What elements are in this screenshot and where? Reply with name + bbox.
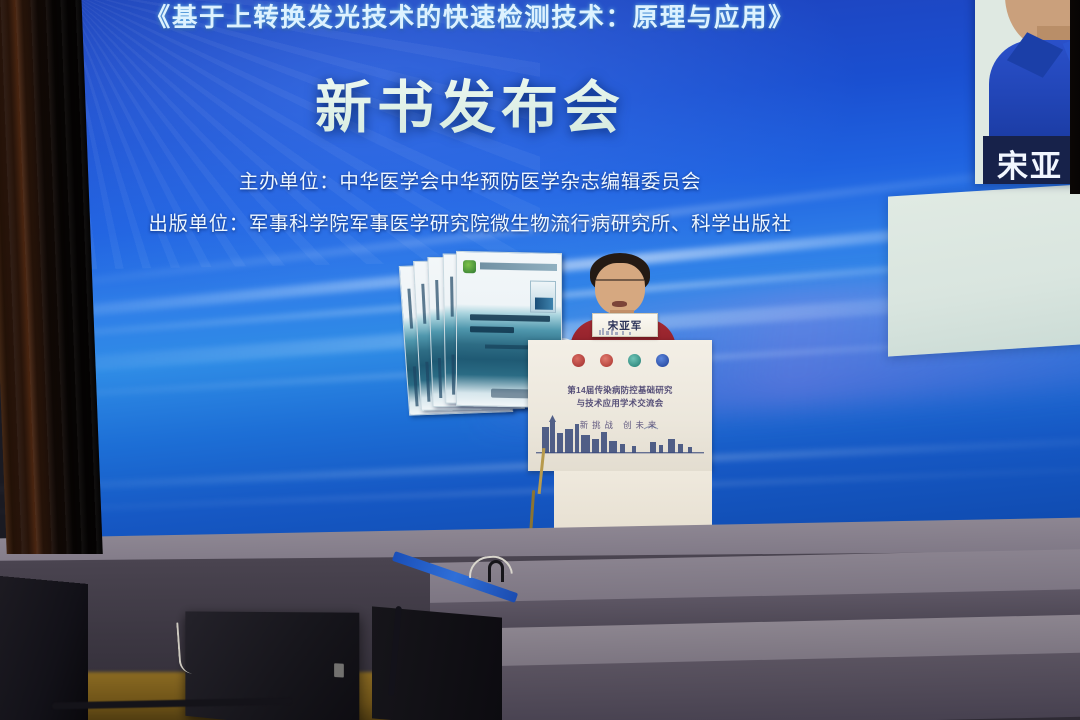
book-title-bar: [470, 314, 550, 322]
speaker-glasses-icon: [596, 279, 644, 288]
podium-conference-line-1: 第14届传染病防控基础研究: [528, 384, 712, 396]
book-series-line: [480, 262, 557, 271]
slide-book-title: 《基于上转换发光技术的快速检测技术：原理与应用》: [0, 0, 940, 34]
monitor-brand-badge: [334, 663, 344, 677]
desk-nameplate-skyline-graphic: [596, 327, 642, 335]
slide-publisher-line: 出版单位：军事科学院军事医学研究院微生物流行病研究所、科学出版社: [0, 207, 940, 236]
podium-logo-red-1: [572, 354, 585, 367]
speaker-mouth: [612, 301, 627, 307]
slide-event-title: 新书发布会: [0, 62, 940, 144]
slide-organizer-line: 主办单位：中华医学会中华预防医学杂志编辑委员会: [0, 165, 940, 194]
podium-logo-red-2: [600, 354, 613, 367]
conference-stage-photo: 《基于上转换发光技术的快速检测技术：原理与应用》 新书发布会 主办单位：中华医学…: [0, 0, 1080, 720]
podium-logo-row: [548, 354, 692, 369]
desk-nameplate: 宋亚军: [592, 313, 658, 337]
book-author-line: [485, 344, 529, 349]
black-audio-cable-loop: [488, 560, 504, 582]
publisher-logo-icon: [463, 260, 476, 273]
book-press-mark: [491, 389, 531, 399]
book-subtitle-bar: [470, 326, 514, 333]
speaker-portrait-panel: 宋亚: [975, 0, 1080, 184]
podium-skyline-graphic: [532, 411, 708, 459]
podium-conference-line-2: 与技术应用学术交流会: [528, 397, 712, 409]
stage-monitor-left: [0, 576, 88, 720]
stage-curtain-right: [1070, 0, 1080, 194]
podium-logo-teal: [628, 354, 641, 367]
speaker-face: [595, 263, 645, 315]
podium-front-panel: 第14届传染病防控基础研究 与技术应用学术交流会 新挑战 创未来: [528, 340, 712, 471]
portrait-name-label: 宋亚: [997, 141, 1063, 184]
portrait-name-plate: 宋亚: [983, 136, 1080, 184]
podium-logo-blue: [656, 354, 669, 367]
book-cover-badge: [530, 280, 556, 313]
